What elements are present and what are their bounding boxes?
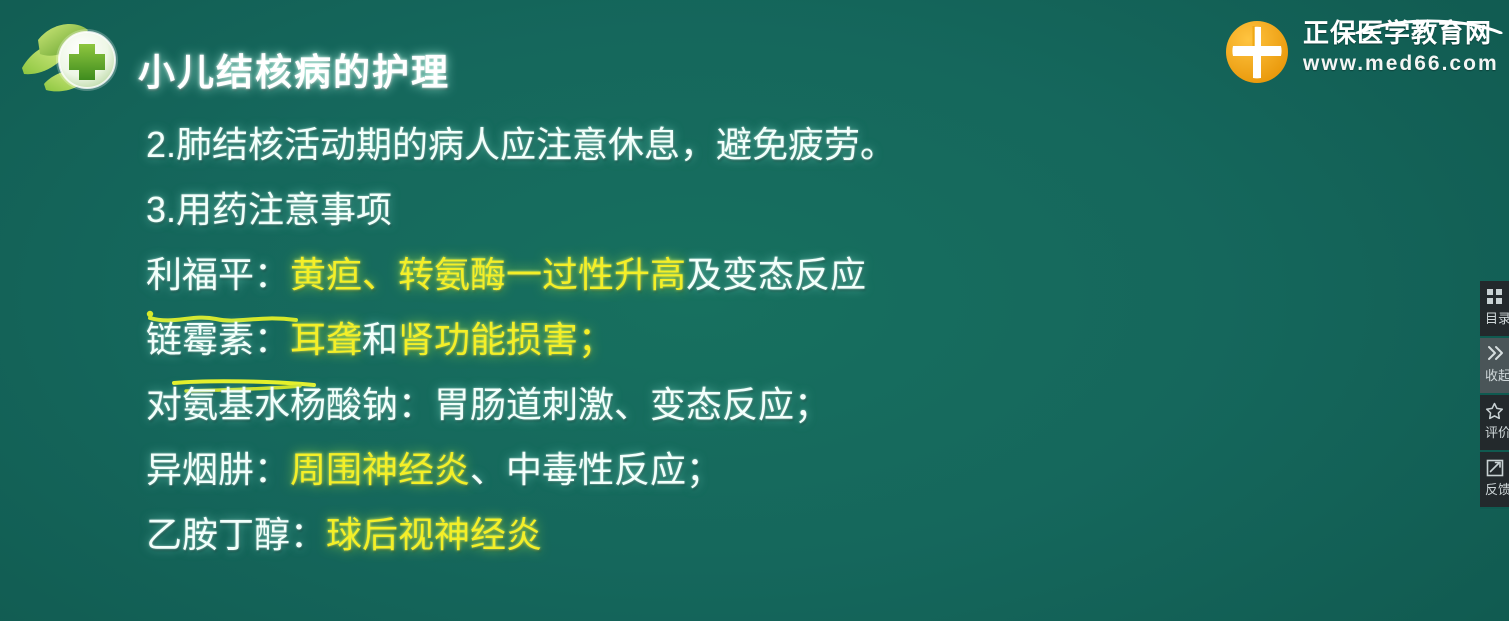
rail-button-feedback-label: 反馈 [1480, 482, 1509, 498]
line-streptomycin-seg-1: 耳聋 [290, 319, 362, 360]
slide-body: 2.肺结核活动期的病人应注意休息，避免疲劳。3.用药注意事项利福平：黄疸、转氨酶… [146, 112, 1326, 567]
line-ethambutol-seg-1: 球后视神经炎 [326, 514, 542, 555]
line-rifampin: 利福平：黄疸、转氨酶一过性升高及变态反应 [146, 242, 1326, 307]
line-streptomycin-seg-3: 肾功能损害； [398, 319, 614, 360]
line-streptomycin-seg-2: 和 [362, 319, 398, 360]
line-pas-sodium-seg-0: 对氨基水杨酸钠：胃肠道刺激、变态反应； [146, 384, 830, 425]
line-isoniazid-seg-1: 周围神经炎 [290, 449, 470, 490]
rail-button-collapse[interactable]: 收起 [1480, 338, 1509, 395]
line-point-2-seg-0: 2.肺结核活动期的病人应注意休息，避免疲劳。 [146, 124, 896, 165]
line-rifampin-seg-0: 利福平： [146, 254, 290, 295]
site-url: www.med66.com [1303, 52, 1499, 76]
chevron-right-icon [1480, 345, 1509, 367]
edit-square-icon [1480, 459, 1509, 481]
line-point-2: 2.肺结核活动期的病人应注意休息，避免疲劳。 [146, 112, 1326, 177]
line-isoniazid: 异烟肼：周围神经炎、中毒性反应； [146, 437, 1326, 502]
line-ethambutol: 乙胺丁醇：球后视神经炎 [146, 502, 1326, 567]
line-streptomycin-seg-0: 链霉素： [146, 319, 290, 360]
line-rifampin-seg-1: 黄疸、转氨酶一过性升高 [290, 254, 686, 295]
rail-button-collapse-label: 收起 [1480, 368, 1509, 384]
rail-button-catalog[interactable]: 目录 [1480, 281, 1509, 338]
leaf-medical-cross-logo [14, 10, 132, 100]
site-logo: 正保医学教育网 www.med66.com [1211, 8, 1501, 96]
line-isoniazid-seg-0: 异烟肼： [146, 449, 290, 490]
site-logo-arc [1355, 18, 1503, 34]
line-ethambutol-seg-0: 乙胺丁醇： [146, 514, 326, 555]
page-title: 小儿结核病的护理 [138, 42, 450, 96]
line-pas-sodium: 对氨基水杨酸钠：胃肠道刺激、变态反应； [146, 372, 1326, 437]
line-isoniazid-seg-2: 、中毒性反应； [470, 449, 722, 490]
lecture-slide: 小儿结核病的护理 [0, 0, 1509, 621]
line-rifampin-seg-2: 及变态反应 [686, 254, 866, 295]
rail-button-feedback[interactable]: 反馈 [1480, 452, 1509, 509]
rail-button-catalog-label: 目录 [1480, 311, 1509, 327]
grid-icon [1480, 288, 1509, 310]
side-rail: 目录收起评价反馈 [1480, 281, 1509, 509]
star-icon [1480, 402, 1509, 424]
slide-header: 小儿结核病的护理 [0, 0, 1509, 104]
rail-button-rate-label: 评价 [1480, 425, 1509, 441]
line-point-3-seg-0: 3.用药注意事项 [146, 189, 392, 230]
line-streptomycin: 链霉素：耳聋和肾功能损害； [146, 307, 1326, 372]
orange-circle-cross-icon [1223, 18, 1291, 86]
rail-button-rate[interactable]: 评价 [1480, 395, 1509, 452]
line-point-3: 3.用药注意事项 [146, 177, 1326, 242]
